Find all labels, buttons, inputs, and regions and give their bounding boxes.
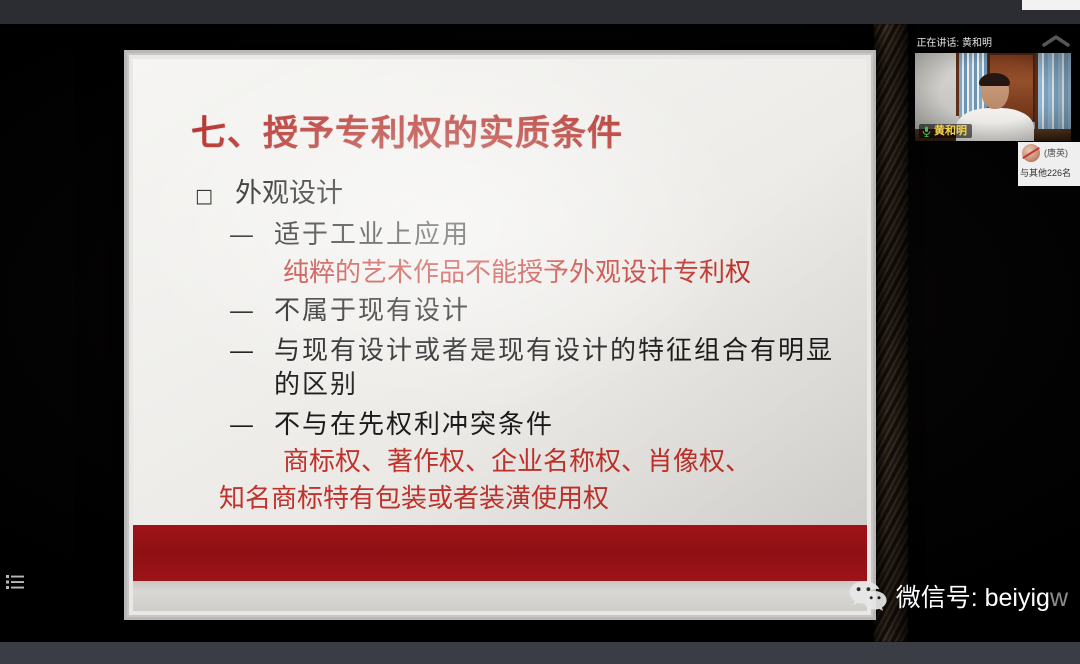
dash-bullet-icon: —: [229, 298, 254, 323]
slide-section-heading-label: 外观设计: [235, 171, 343, 210]
secondary-participant-panel[interactable]: (唐英) 与其他226名: [1018, 142, 1080, 186]
wechat-id-text: 微信号: beiyig: [896, 584, 1050, 612]
slide-red-note: 商标权、著作权、企业名称权、肖像权、: [283, 446, 849, 479]
projected-slide-frame: 七、授予专利权的实质条件 □ 外观设计 — 适于工业上应用 纯粹的艺术作品不能授…: [124, 50, 876, 620]
dash-bullet-icon: —: [229, 412, 254, 437]
slide-red-band: [133, 525, 867, 581]
secondary-participant-name: (唐英): [1044, 146, 1068, 159]
slide-title: 七、授予专利权的实质条件: [191, 105, 623, 156]
dash-bullet-icon: —: [229, 338, 254, 363]
stone-wall-strip: [874, 24, 908, 642]
slide-bullet-item: — 适于工业上应用: [229, 219, 849, 253]
slide-surface: 七、授予专利权的实质条件 □ 外观设计 — 适于工业上应用 纯粹的艺术作品不能授…: [133, 59, 867, 611]
slide-section-heading: □ 外观设计: [195, 171, 849, 210]
chevron-collapse-icon[interactable]: [1042, 34, 1070, 48]
wechat-id-text-tail: w: [1050, 584, 1068, 612]
participant-name: 黄和明: [934, 125, 967, 137]
slide-bullet-item: — 不属于现有设计: [229, 295, 849, 329]
participant-video-tile[interactable]: 黄和明: [914, 52, 1072, 142]
top-chrome-bar: [0, 0, 1080, 24]
slide-footer-strip: [133, 581, 867, 611]
slide-bullet-label: 适于工业上应用: [274, 219, 470, 253]
microphone-icon: [922, 126, 931, 137]
slide-bullet-label: 不与在先权利冲突条件: [274, 409, 554, 443]
slide-body: □ 外观设计 — 适于工业上应用 纯粹的艺术作品不能授予外观设计专利权 —: [195, 171, 849, 521]
screen-recording-frame: 七、授予专利权的实质条件 □ 外观设计 — 适于工业上应用 纯粹的艺术作品不能授…: [0, 0, 1080, 664]
participant-nametag: 黄和明: [919, 124, 972, 138]
wechat-watermark: 微信号: beiyigw: [848, 578, 1068, 614]
slide-bullet-label: 不属于现有设计: [274, 295, 470, 329]
muted-avatar-icon: [1022, 144, 1040, 162]
wechat-logo-icon: [848, 579, 888, 613]
top-chrome-right-notch: [1022, 0, 1080, 10]
slide-bullet-item: — 不与在先权利冲突条件: [229, 409, 849, 443]
bottom-chrome-bar: [0, 642, 1080, 664]
video-stage: 七、授予专利权的实质条件 □ 外观设计 — 适于工业上应用 纯粹的艺术作品不能授…: [0, 24, 1080, 642]
slide-red-note-continued: 知名商标特有包装或者装潢使用权: [219, 483, 849, 516]
dash-bullet-icon: —: [229, 222, 254, 247]
square-bullet-icon: □: [195, 187, 213, 206]
active-speaker-label: 正在讲话: 黄和明: [916, 34, 992, 49]
mute-slash-icon: [1022, 147, 1040, 159]
slide-bullet-label: 与现有设计或者是现有设计的特征组合有明显的区别: [274, 335, 849, 403]
other-participants-count: 与其他226名: [1020, 166, 1071, 179]
slide-red-note: 纯粹的艺术作品不能授予外观设计专利权: [283, 257, 849, 290]
slide-bullet-item: — 与现有设计或者是现有设计的特征组合有明显的区别: [229, 335, 849, 403]
list-view-icon[interactable]: [6, 574, 24, 590]
wechat-watermark-label: 微信号: beiyigw: [896, 578, 1068, 614]
projected-slide-inner: 七、授予专利权的实质条件 □ 外观设计 — 适于工业上应用 纯粹的艺术作品不能授…: [127, 53, 873, 617]
